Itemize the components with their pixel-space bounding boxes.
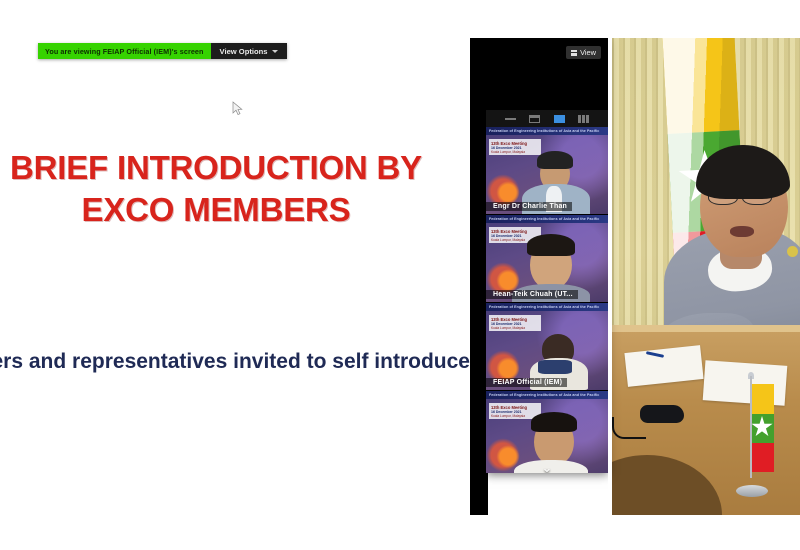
active-speaker-video[interactable] bbox=[612, 38, 800, 515]
view-button-label: View bbox=[580, 48, 596, 57]
top-letterbox bbox=[0, 0, 800, 38]
desk-surface bbox=[612, 325, 800, 515]
conference-microphone bbox=[640, 405, 684, 423]
view-options-button[interactable]: View Options bbox=[211, 43, 287, 59]
screen-share-banner: You are viewing FEIAP Official (IEM)'s s… bbox=[38, 43, 287, 59]
panel-header-area: View bbox=[486, 38, 608, 110]
mouse-cursor bbox=[232, 101, 243, 116]
slide-banner-text: Federation of Engineering Institutions o… bbox=[486, 215, 608, 223]
share-banner-message: You are viewing FEIAP Official (IEM)'s s… bbox=[38, 43, 211, 59]
side-by-side-view-icon[interactable] bbox=[554, 115, 565, 123]
gallery-view-icon[interactable] bbox=[578, 115, 589, 123]
slide-banner-text: Federation of Engineering Institutions o… bbox=[486, 127, 608, 135]
slide-banner-text: Federation of Engineering Institutions o… bbox=[486, 303, 608, 311]
slide-title: BRIEF INTRODUCTION BY EXCO MEMBERS bbox=[0, 147, 470, 231]
view-button[interactable]: View bbox=[566, 46, 601, 59]
view-options-label: View Options bbox=[220, 47, 268, 56]
slide-body-text: mbers and representatives invited to sel… bbox=[0, 347, 470, 377]
participant-tile[interactable]: Federation of Engineering Institutions o… bbox=[486, 391, 608, 473]
speaker-view-icon[interactable] bbox=[529, 115, 540, 123]
participant-name: FEIAP Official (IEM) bbox=[486, 378, 567, 388]
participant-name: Hean-Teik Chuah (UT... bbox=[486, 290, 578, 300]
panel-divider bbox=[608, 0, 612, 550]
participant-tiles[interactable]: Federation of Engineering Institutions o… bbox=[486, 127, 608, 473]
paper-document bbox=[624, 345, 703, 387]
participant-tile[interactable]: Federation of Engineering Institutions o… bbox=[486, 215, 608, 303]
grid-icon bbox=[571, 50, 577, 56]
slide-banner-text: Federation of Engineering Institutions o… bbox=[486, 391, 608, 399]
chevron-down-icon bbox=[272, 50, 278, 53]
participant-video-panel: View Federation of Engineering Instituti… bbox=[486, 38, 608, 473]
layout-toggle-bar bbox=[486, 110, 608, 127]
bottom-letterbox bbox=[0, 515, 800, 550]
participant-name: Engr Dr Charlie Than bbox=[486, 202, 572, 212]
participant-tile[interactable]: Federation of Engineering Institutions o… bbox=[486, 303, 608, 391]
myanmar-desk-flag bbox=[730, 372, 774, 497]
lapel-badge bbox=[787, 246, 798, 257]
minimize-icon[interactable] bbox=[505, 118, 516, 120]
chevron-down-icon[interactable]: ⌄ bbox=[542, 461, 553, 473]
participant-tile[interactable]: Federation of Engineering Institutions o… bbox=[486, 127, 608, 215]
screenshot-root: BRIEF INTRODUCTION BY EXCO MEMBERS mbers… bbox=[0, 0, 800, 550]
